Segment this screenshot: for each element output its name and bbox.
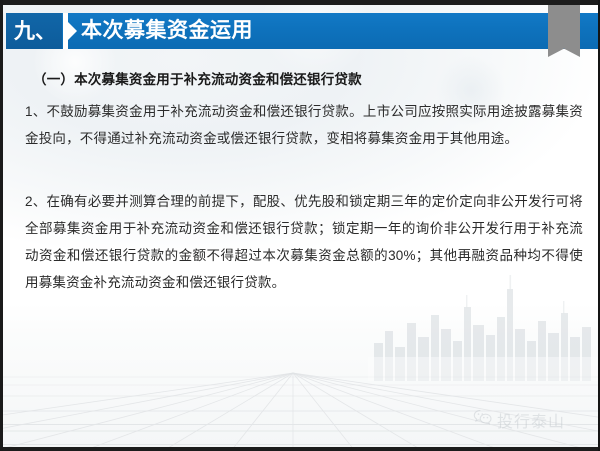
triangle-right-icon (68, 22, 77, 40)
section-title: 本次募集资金运用 (81, 15, 253, 47)
body-paragraph: 1、不鼓励募集资金用于补充流动资金和偿还银行贷款。上市公司应按照实际用途披露募集… (25, 98, 583, 152)
slide-bottom-border (3, 447, 600, 451)
watermark: 投行泰山 (473, 408, 565, 432)
presentation-slide: 九、 本次募集资金运用 （一）本次募集资金用于补充流动资金和偿还银行贷款 1、不… (0, 0, 600, 451)
watermark-text: 投行泰山 (497, 408, 565, 432)
wechat-logo-icon (473, 409, 493, 431)
body-paragraph: 2、在确有必要并测算合理的前提下，配股、优先股和锁定期三年的定价定向非公开发行可… (25, 188, 583, 296)
body-subtitle: （一）本次募集资金用于补充流动资金和偿还银行贷款 (33, 70, 573, 90)
floor-baseline (3, 444, 600, 445)
section-index-label: 九、 (14, 15, 62, 48)
